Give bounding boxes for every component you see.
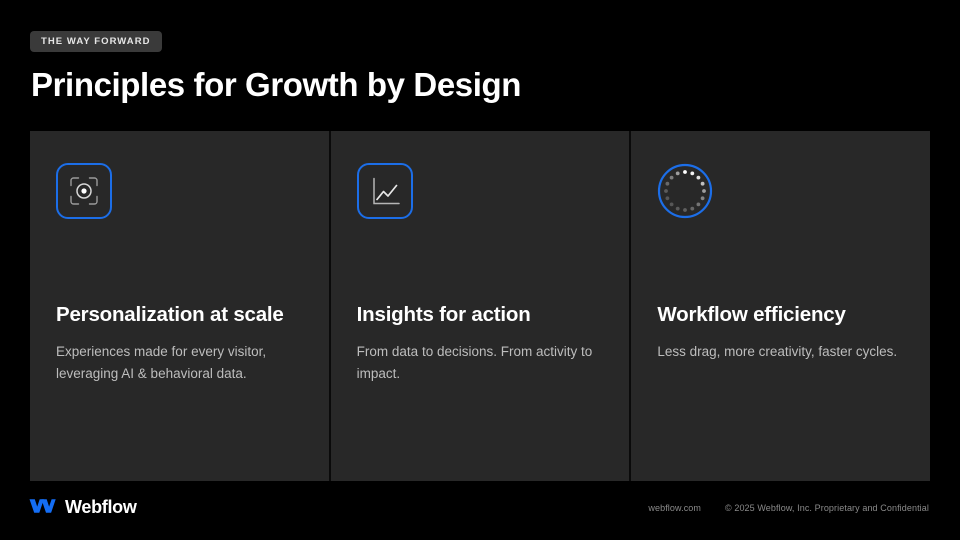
card-heading: Insights for action [357, 302, 604, 328]
principles-card-row: Personalization at scale Experiences mad… [30, 131, 930, 481]
slide-canvas: THE WAY FORWARD Principles for Growth by… [0, 0, 960, 540]
card-heading: Workflow efficiency [657, 302, 904, 328]
footer-copyright: © 2025 Webflow, Inc. Proprietary and Con… [725, 504, 929, 513]
footer: Webflow webflow.com © 2025 Webflow, Inc.… [0, 481, 960, 540]
line-chart-icon [357, 163, 413, 219]
card-body: Experiences made for every visitor, leve… [56, 341, 303, 385]
card-workflow[interactable]: Workflow efficiency Less drag, more crea… [631, 131, 930, 481]
webflow-logo: Webflow [29, 497, 137, 516]
webflow-mark-icon [29, 497, 56, 516]
focus-target-icon [56, 163, 112, 219]
card-body: From data to decisions. From activity to… [357, 341, 604, 385]
webflow-wordmark: Webflow [65, 498, 137, 516]
eyebrow-badge: THE WAY FORWARD [30, 31, 162, 52]
footer-meta: webflow.com © 2025 Webflow, Inc. Proprie… [648, 504, 929, 513]
page-title: Principles for Growth by Design [31, 66, 521, 105]
card-insights[interactable]: Insights for action From data to decisio… [331, 131, 630, 481]
card-body: Less drag, more creativity, faster cycle… [657, 341, 904, 363]
footer-website[interactable]: webflow.com [648, 504, 701, 513]
card-heading: Personalization at scale [56, 302, 303, 328]
spinner-dots-icon [657, 163, 713, 219]
card-personalization[interactable]: Personalization at scale Experiences mad… [30, 131, 329, 481]
